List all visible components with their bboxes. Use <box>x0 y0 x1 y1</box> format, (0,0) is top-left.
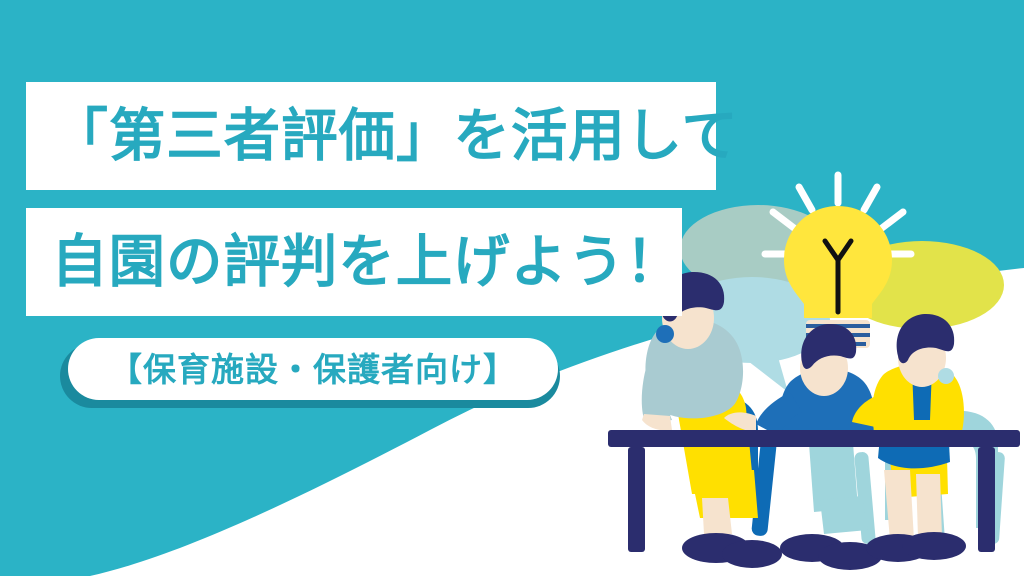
person-left <box>642 272 782 568</box>
person-right-skirt <box>886 420 948 498</box>
chair-right <box>925 411 1005 545</box>
person-right-hair <box>897 314 955 363</box>
headline-line-1: 「第三者評価」を活用して <box>51 108 738 165</box>
person-left-hand <box>642 414 672 431</box>
headline-band-2: 自園の評判を上げよう！ <box>26 208 682 316</box>
person-right-leg-2 <box>916 474 942 538</box>
person-right-face <box>898 329 946 387</box>
person-left-skirt <box>678 377 754 494</box>
person-right-shoe-1 <box>866 534 930 562</box>
person-left-earring <box>656 325 674 343</box>
audience-badge-label: 【保育施設・保護者向け】 <box>109 353 517 386</box>
lightbulb-rays <box>765 175 911 254</box>
person-center-shoe-1 <box>780 534 844 562</box>
person-center-face <box>800 340 848 396</box>
person-left-shoe-1 <box>682 533 750 563</box>
person-left-top <box>645 319 743 418</box>
poster-canvas: 「第三者評価」を活用して 自園の評判を上げよう！ 【保育施設・保護者向け】 <box>0 0 1024 576</box>
headline-band-1: 「第三者評価」を活用して <box>26 82 716 190</box>
person-right-shirt <box>912 368 932 420</box>
chair-center <box>853 407 905 545</box>
lightbulb-filament <box>825 241 851 312</box>
chair-left <box>697 396 777 537</box>
table-leg-left <box>628 447 645 552</box>
speech-bubble-yellowgreen <box>840 241 1004 362</box>
lightbulb-base <box>806 320 870 348</box>
lightbulb-glass <box>784 206 892 318</box>
person-right-shoe-2 <box>902 532 966 560</box>
person-right-jacket <box>872 364 964 438</box>
person-center-hand <box>724 412 756 432</box>
table-top <box>608 430 1020 447</box>
person-left-shoe-2 <box>722 540 782 568</box>
table-leg-right <box>978 447 995 552</box>
person-center-arm <box>756 392 802 436</box>
audience-badge: 【保育施設・保護者向け】 <box>68 338 558 400</box>
person-right-bottom <box>878 410 950 468</box>
speech-bubble-lightblue <box>674 277 830 392</box>
person-center-pants <box>808 430 858 512</box>
person-right-earring <box>938 368 954 384</box>
person-right-leg-1 <box>884 470 914 540</box>
person-right <box>852 314 966 562</box>
speech-bubble-sage <box>680 205 836 320</box>
arc-ellipse <box>340 290 1024 576</box>
headline-line-2: 自園の評判を上げよう！ <box>51 234 683 291</box>
person-center-hair <box>801 324 856 369</box>
idea-lightbulb <box>765 175 911 348</box>
person-center-shoe-2 <box>818 542 882 570</box>
table <box>608 430 1020 552</box>
person-center-top <box>780 369 875 447</box>
person-center <box>724 324 882 570</box>
